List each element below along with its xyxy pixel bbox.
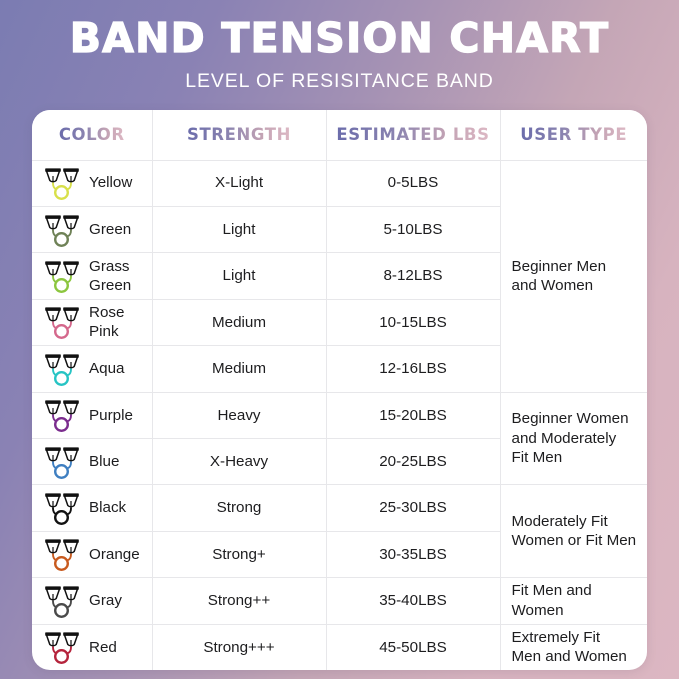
column-header-strength-label: STRENGTH	[187, 125, 291, 144]
cell-strength: Medium	[152, 346, 326, 392]
cell-color: Red	[32, 624, 152, 670]
cell-strength: X-Heavy	[152, 438, 326, 484]
resistance-band-icon	[42, 627, 82, 667]
color-name: Orange	[89, 545, 140, 564]
color-name: Yellow	[89, 173, 132, 192]
table-header: COLOR STRENGTH ESTIMATED LBS USER TYPE	[32, 110, 647, 160]
cell-strength: Medium	[152, 299, 326, 345]
color-swatch-group: Yellow	[42, 163, 152, 203]
table-row: PurpleHeavy15-20LBSBeginner Women and Mo…	[32, 392, 647, 438]
cell-estimated-lbs: 15-20LBS	[326, 392, 500, 438]
resistance-band-icon	[42, 163, 82, 203]
cell-color: Blue	[32, 438, 152, 484]
cell-color: Orange	[32, 531, 152, 577]
column-header-user-type-label: USER TYPE	[520, 125, 627, 144]
cell-user-type: Fit Men and Women	[500, 578, 647, 624]
column-header-color-label: COLOR	[59, 125, 125, 144]
cell-strength: Strong+++	[152, 624, 326, 670]
column-header-lbs: ESTIMATED LBS	[326, 110, 500, 160]
resistance-band-icon	[42, 534, 82, 574]
cell-estimated-lbs: 5-10LBS	[326, 206, 500, 252]
resistance-band-icon	[42, 302, 82, 342]
resistance-band-icon	[42, 581, 82, 621]
cell-estimated-lbs: 45-50LBS	[326, 624, 500, 670]
cell-user-type: Extremely Fit Men and Women	[500, 624, 647, 670]
color-name: Black	[89, 498, 126, 517]
color-name: Grass Green	[89, 257, 131, 296]
cell-estimated-lbs: 0-5LBS	[326, 160, 500, 206]
color-swatch-group: Aqua	[42, 349, 152, 389]
cell-estimated-lbs: 20-25LBS	[326, 438, 500, 484]
cell-strength: Light	[152, 206, 326, 252]
table-row: RedStrong+++45-50LBSExtremely Fit Men an…	[32, 624, 647, 670]
page-subtitle: LEVEL OF RESISITANCE BAND	[185, 70, 494, 93]
cell-strength: Light	[152, 253, 326, 299]
cell-user-type: Moderately Fit Women or Fit Men	[500, 485, 647, 578]
resistance-band-icon	[42, 395, 82, 435]
chart-card: COLOR STRENGTH ESTIMATED LBS USER TYPE Y…	[32, 110, 647, 670]
cell-estimated-lbs: 12-16LBS	[326, 346, 500, 392]
color-swatch-group: Red	[42, 627, 152, 667]
color-swatch-group: Gray	[42, 581, 152, 621]
table-row: GrayStrong++35-40LBSFit Men and Women	[32, 578, 647, 624]
color-swatch-group: Orange	[42, 534, 152, 574]
cell-strength: Strong+	[152, 531, 326, 577]
color-name: Purple	[89, 406, 133, 425]
color-swatch-group: Rose Pink	[42, 302, 152, 342]
color-swatch-group: Grass Green	[42, 256, 152, 296]
cell-user-type: Beginner Men and Women	[500, 160, 647, 392]
column-header-lbs-label: ESTIMATED LBS	[336, 125, 489, 144]
cell-color: Aqua	[32, 346, 152, 392]
column-header-strength: STRENGTH	[152, 110, 326, 160]
cell-strength: Strong++	[152, 578, 326, 624]
color-name: Green	[89, 220, 131, 239]
color-name: Blue	[89, 452, 119, 471]
cell-estimated-lbs: 8-12LBS	[326, 253, 500, 299]
cell-color: Rose Pink	[32, 299, 152, 345]
color-name: Gray	[89, 591, 122, 610]
cell-color: Gray	[32, 578, 152, 624]
cell-user-type: Beginner Women and Moderately Fit Men	[500, 392, 647, 485]
color-swatch-group: Green	[42, 210, 152, 250]
table-row: BlackStrong25-30LBSModerately Fit Women …	[32, 485, 647, 531]
color-name: Rose Pink	[89, 303, 124, 342]
cell-color: Black	[32, 485, 152, 531]
cell-color: Yellow	[32, 160, 152, 206]
column-header-color: COLOR	[32, 110, 152, 160]
page-title: BAND TENSION CHART	[70, 17, 610, 60]
cell-strength: Heavy	[152, 392, 326, 438]
resistance-band-icon	[42, 349, 82, 389]
band-tension-table: COLOR STRENGTH ESTIMATED LBS USER TYPE Y…	[32, 110, 647, 670]
color-swatch-group: Black	[42, 488, 152, 528]
table-header-row: COLOR STRENGTH ESTIMATED LBS USER TYPE	[32, 110, 647, 160]
table-row: YellowX-Light0-5LBSBeginner Men and Wome…	[32, 160, 647, 206]
table-body: YellowX-Light0-5LBSBeginner Men and Wome…	[32, 160, 647, 670]
cell-color: Purple	[32, 392, 152, 438]
cell-estimated-lbs: 10-15LBS	[326, 299, 500, 345]
cell-strength: X-Light	[152, 160, 326, 206]
cell-estimated-lbs: 35-40LBS	[326, 578, 500, 624]
color-name: Aqua	[89, 359, 124, 378]
resistance-band-icon	[42, 256, 82, 296]
resistance-band-icon	[42, 442, 82, 482]
resistance-band-icon	[42, 488, 82, 528]
chart-page: BAND TENSION CHART LEVEL OF RESISITANCE …	[0, 0, 679, 679]
cell-estimated-lbs: 25-30LBS	[326, 485, 500, 531]
cell-strength: Strong	[152, 485, 326, 531]
color-swatch-group: Purple	[42, 395, 152, 435]
cell-color: Grass Green	[32, 253, 152, 299]
cell-estimated-lbs: 30-35LBS	[326, 531, 500, 577]
color-swatch-group: Blue	[42, 442, 152, 482]
color-name: Red	[89, 638, 117, 657]
cell-color: Green	[32, 206, 152, 252]
column-header-user-type: USER TYPE	[500, 110, 647, 160]
resistance-band-icon	[42, 210, 82, 250]
